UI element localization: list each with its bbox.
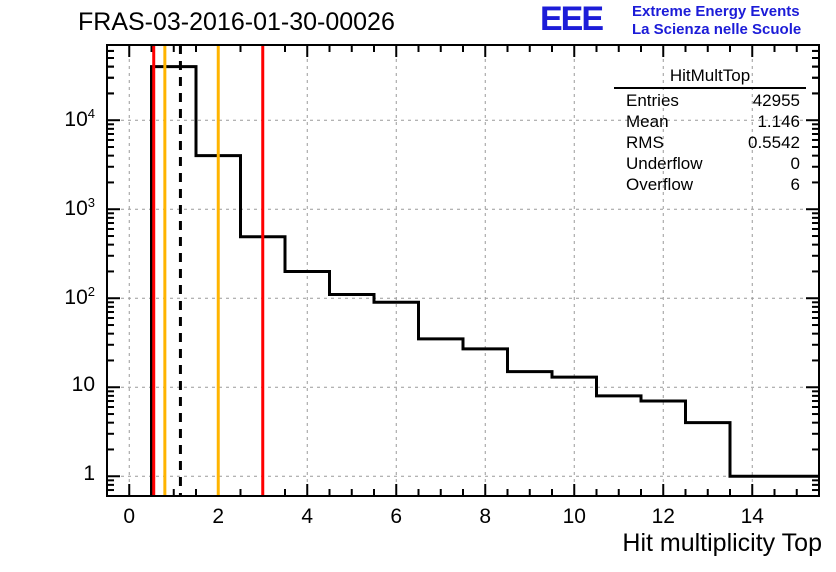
- stats-row: Underflow0: [612, 153, 808, 174]
- stats-row-value: 6: [791, 174, 800, 195]
- stats-rows: Entries42955Mean1.146RMS0.5542Underflow0…: [612, 90, 808, 195]
- stats-row-key: Overflow: [626, 174, 693, 195]
- x-tick-label: 6: [366, 505, 426, 529]
- root-canvas: FRAS-03-2016-01-30-00026 EEE Extreme Ene…: [0, 0, 836, 572]
- x-tick-label: 0: [99, 505, 159, 529]
- stats-row-value: 0: [791, 153, 800, 174]
- stats-row-key: RMS: [626, 132, 664, 153]
- stats-row: Overflow6: [612, 174, 808, 195]
- x-tick-label: 10: [544, 505, 604, 529]
- y-tick-label: 102: [0, 284, 95, 310]
- stats-title: HitMultTop: [614, 66, 806, 89]
- stats-row-key: Entries: [626, 90, 679, 111]
- y-tick-label: 103: [0, 195, 95, 221]
- y-tick-label: 1: [0, 462, 95, 486]
- stats-row: Mean1.146: [612, 111, 808, 132]
- x-tick-label: 8: [455, 505, 515, 529]
- stats-row: Entries42955: [612, 90, 808, 111]
- x-axis-title: Hit multiplicity Top: [622, 529, 822, 558]
- stats-row-value: 0.5542: [748, 132, 800, 153]
- y-tick-label: 104: [0, 106, 95, 132]
- x-tick-label: 12: [633, 505, 693, 529]
- stats-row-value: 1.146: [757, 111, 800, 132]
- x-tick-label: 4: [277, 505, 337, 529]
- stats-box: HitMultTop Entries42955Mean1.146RMS0.554…: [612, 66, 808, 195]
- stats-row: RMS0.5542: [612, 132, 808, 153]
- stats-row-value: 42955: [753, 90, 800, 111]
- y-tick-label: 10: [0, 373, 95, 397]
- stats-row-key: Underflow: [626, 153, 703, 174]
- x-tick-label: 14: [722, 505, 782, 529]
- stats-row-key: Mean: [626, 111, 669, 132]
- x-tick-label: 2: [188, 505, 248, 529]
